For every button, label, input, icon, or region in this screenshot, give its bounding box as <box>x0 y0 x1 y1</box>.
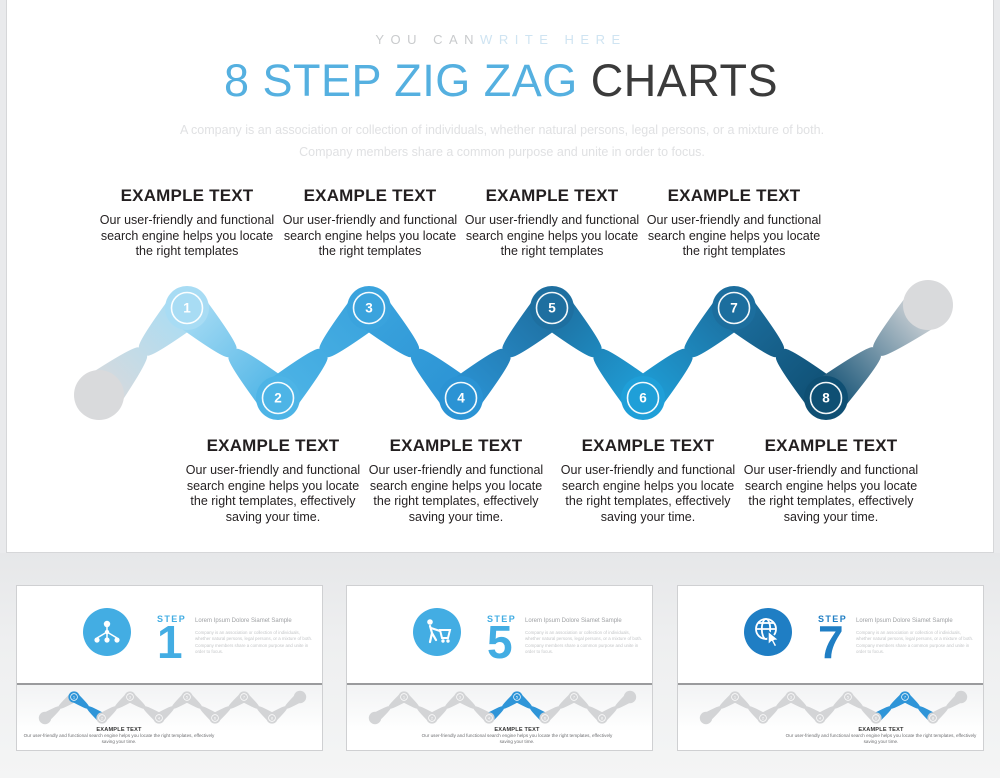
thumbnail-caption-body: Our user-friendly and functional search … <box>417 733 617 745</box>
bottom-block-heading: EXAMPLE TEXT <box>178 436 368 456</box>
thumbnail-end-cap <box>955 691 967 703</box>
page-subtitle: A company is an association or collectio… <box>167 119 837 163</box>
thumbnail-slide-2[interactable]: STEP 5 Lorem Ipsum Dolore Siamet Sample … <box>346 585 653 751</box>
thumbnail-heading: Lorem Ipsum Dolore Siamet Sample <box>195 618 313 624</box>
bottom-block-heading: EXAMPLE TEXT <box>553 436 743 456</box>
bottom-block-body: Our user-friendly and functional search … <box>361 463 551 525</box>
thumbnail-heading: Lorem Ipsum Dolore Siamet Sample <box>856 618 974 624</box>
bottom-text-block-3[interactable]: EXAMPLE TEXT Our user-friendly and funct… <box>553 436 743 525</box>
thumbnail-end-cap <box>700 712 712 724</box>
step-node-label: 8 <box>822 391 830 406</box>
globe-cursor-icon <box>744 608 792 656</box>
bottom-text-block-4[interactable]: EXAMPLE TEXT Our user-friendly and funct… <box>736 436 926 525</box>
thumbnail-top-panel: STEP 1 Lorem Ipsum Dolore Siamet Sample … <box>17 586 322 685</box>
thumbnail-end-cap <box>369 712 381 724</box>
eyebrow-gray-text: YOU CAN <box>375 32 480 47</box>
thumbnail-caption-body: Our user-friendly and functional search … <box>781 733 981 745</box>
shopping-cart-icon <box>413 608 461 656</box>
bottom-block-body: Our user-friendly and functional search … <box>553 463 743 525</box>
top-block-heading: EXAMPLE TEXT <box>275 186 465 206</box>
top-block-heading: EXAMPLE TEXT <box>639 186 829 206</box>
bottom-block-heading: EXAMPLE TEXT <box>361 436 551 456</box>
thumbnail-caption: EXAMPLE TEXT Our user-friendly and funct… <box>19 727 219 745</box>
thumbnail-strip: STEP 1 Lorem Ipsum Dolore Siamet Sample … <box>0 553 1000 778</box>
zigzag-chart[interactable]: 12345678 <box>7 270 994 430</box>
thumbnail-bottom-panel: 12345678 EXAMPLE TEXT Our user-friendly … <box>17 685 322 751</box>
bottom-block-body: Our user-friendly and functional search … <box>736 463 926 525</box>
eyebrow-label: YOU CANWRITE HERE <box>7 32 994 47</box>
eyebrow-blue-text: WRITE HERE <box>480 32 627 47</box>
bottom-text-block-2[interactable]: EXAMPLE TEXT Our user-friendly and funct… <box>361 436 551 525</box>
thumbnail-slide-3[interactable]: STEP 7 Lorem Ipsum Dolore Siamet Sample … <box>677 585 984 751</box>
thumbnail-step-number: 5 <box>487 619 512 665</box>
page-title: 8 STEP ZIG ZAG CHARTS <box>7 55 994 107</box>
step-node-2[interactable]: 2 <box>256 376 300 420</box>
bottom-block-heading: EXAMPLE TEXT <box>736 436 926 456</box>
top-text-block-3[interactable]: EXAMPLE TEXT Our user-friendly and funct… <box>457 186 647 260</box>
step-node-label: 3 <box>365 301 373 316</box>
thumbnail-step-number: 1 <box>157 619 182 665</box>
step-node-label: 5 <box>548 301 556 316</box>
thumbnail-slide-1[interactable]: STEP 1 Lorem Ipsum Dolore Siamet Sample … <box>16 585 323 751</box>
bottom-text-block-1[interactable]: EXAMPLE TEXT Our user-friendly and funct… <box>178 436 368 525</box>
thumbnail-body: Company is an association or collection … <box>856 630 974 656</box>
thumbnail-caption-body: Our user-friendly and functional search … <box>19 733 219 745</box>
thumbnail-heading: Lorem Ipsum Dolore Siamet Sample <box>525 618 643 624</box>
bottom-block-body: Our user-friendly and functional search … <box>178 463 368 525</box>
step-node-6[interactable]: 6 <box>621 376 665 420</box>
thumbnail-caption: EXAMPLE TEXT Our user-friendly and funct… <box>781 727 981 745</box>
step-node-5[interactable]: 5 <box>530 286 574 330</box>
start-cap <box>74 370 124 420</box>
thumbnail-bottom-panel: 12345678 EXAMPLE TEXT Our user-friendly … <box>678 685 983 751</box>
step-node-label: 4 <box>457 391 465 406</box>
main-slide[interactable]: YOU CANWRITE HERE 8 STEP ZIG ZAG CHARTS … <box>6 0 994 553</box>
step-node-1[interactable]: 1 <box>165 286 209 330</box>
step-node-7[interactable]: 7 <box>712 286 756 330</box>
thumbnail-bottom-panel: 12345678 EXAMPLE TEXT Our user-friendly … <box>347 685 652 751</box>
thumbnail-body: Company is an association or collection … <box>525 630 643 656</box>
network-icon <box>83 608 131 656</box>
thumbnail-top-panel: STEP 5 Lorem Ipsum Dolore Siamet Sample … <box>347 586 652 685</box>
thumbnail-end-cap <box>624 691 636 703</box>
top-block-heading: EXAMPLE TEXT <box>92 186 282 206</box>
top-text-block-2[interactable]: EXAMPLE TEXT Our user-friendly and funct… <box>275 186 465 260</box>
thumbnail-caption: EXAMPLE TEXT Our user-friendly and funct… <box>417 727 617 745</box>
step-node-4[interactable]: 4 <box>439 376 483 420</box>
thumbnail-end-cap <box>294 691 306 703</box>
top-text-block-1[interactable]: EXAMPLE TEXT Our user-friendly and funct… <box>92 186 282 260</box>
top-block-body: Our user-friendly and functional search … <box>92 213 282 260</box>
step-node-8[interactable]: 8 <box>804 376 848 420</box>
thumbnail-body: Company is an association or collection … <box>195 630 313 656</box>
top-block-heading: EXAMPLE TEXT <box>457 186 647 206</box>
top-block-body: Our user-friendly and functional search … <box>457 213 647 260</box>
thumbnail-end-cap <box>39 712 51 724</box>
step-node-label: 7 <box>730 301 738 316</box>
step-node-3[interactable]: 3 <box>347 286 391 330</box>
title-dark-part: CHARTS <box>591 55 778 106</box>
step-node-label: 2 <box>274 391 282 406</box>
thumbnail-step-number: 7 <box>818 619 843 665</box>
top-block-body: Our user-friendly and functional search … <box>275 213 465 260</box>
end-cap <box>903 280 953 330</box>
step-node-label: 6 <box>639 391 647 406</box>
title-blue-part: 8 STEP ZIG ZAG <box>224 55 578 106</box>
top-block-body: Our user-friendly and functional search … <box>639 213 829 260</box>
thumbnail-top-panel: STEP 7 Lorem Ipsum Dolore Siamet Sample … <box>678 586 983 685</box>
step-node-label: 1 <box>183 301 191 316</box>
top-text-block-4[interactable]: EXAMPLE TEXT Our user-friendly and funct… <box>639 186 829 260</box>
